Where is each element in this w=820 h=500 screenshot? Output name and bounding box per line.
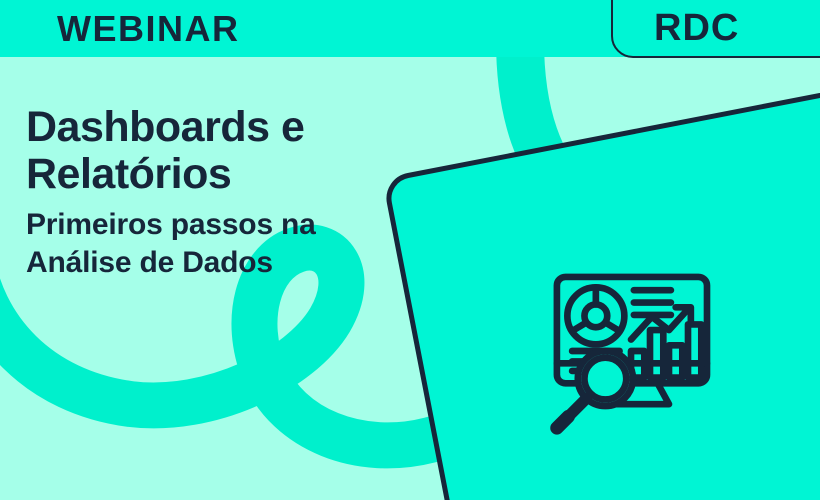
webinar-kicker: WEBINAR (57, 6, 239, 52)
dashboard-analytics-icon (536, 256, 726, 446)
page-subtitle-line-2: Análise de Dados (26, 244, 426, 282)
page-title-line-1: Dashboards e (26, 104, 426, 151)
rdc-badge-label: RDC (654, 4, 739, 52)
donut-chart (567, 287, 624, 344)
hero-text-block: Dashboards e Relatórios Primeiros passos… (26, 104, 426, 282)
hero-subtitle-block: Primeiros passos na Análise de Dados (26, 206, 426, 282)
webinar-banner: WEBINAR RDC Dashboards e Relatórios Prim… (0, 0, 820, 500)
text-lines-top (634, 290, 671, 315)
page-subtitle-line-1: Primeiros passos na (26, 206, 426, 244)
page-title-line-2: Relatórios (26, 151, 426, 198)
